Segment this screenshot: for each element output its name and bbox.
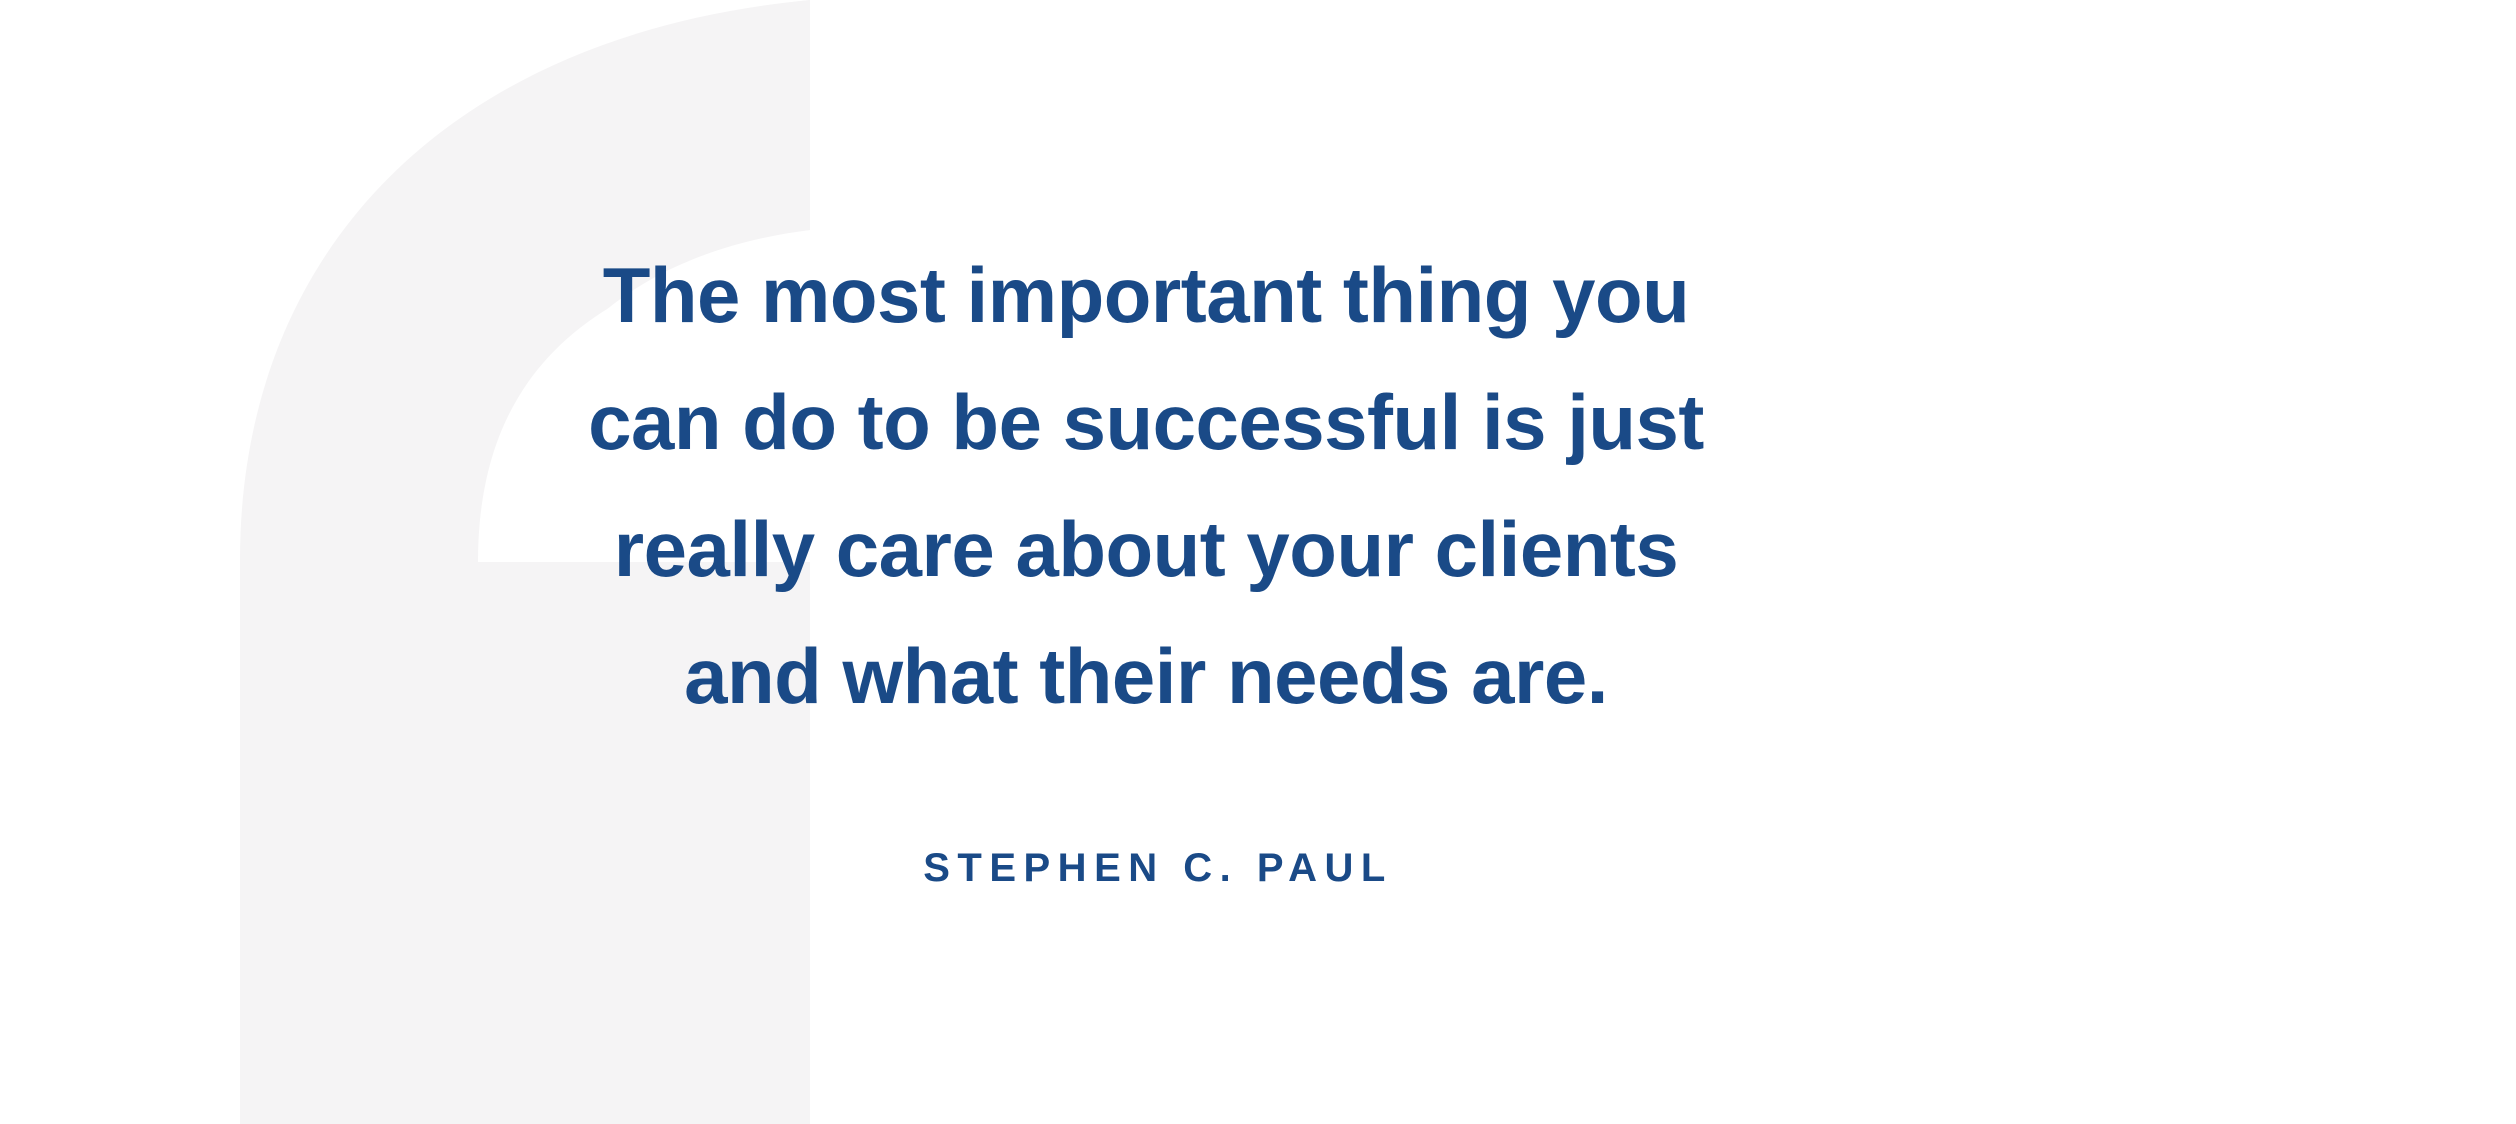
quote-content: The most important thing you can do to b…	[0, 0, 2516, 1124]
quote-line: The most important thing you	[386, 232, 1906, 359]
quote-line: and what their needs are.	[386, 613, 1906, 740]
quote-line: can do to be successful is just	[386, 359, 1906, 486]
quote-card: The most important thing you can do to b…	[0, 0, 2516, 1124]
quote-line: really care about your clients	[386, 486, 1906, 613]
quote-text: The most important thing you can do to b…	[386, 232, 1906, 740]
quote-attribution: STEPHEN C. PAUL	[923, 844, 1393, 892]
